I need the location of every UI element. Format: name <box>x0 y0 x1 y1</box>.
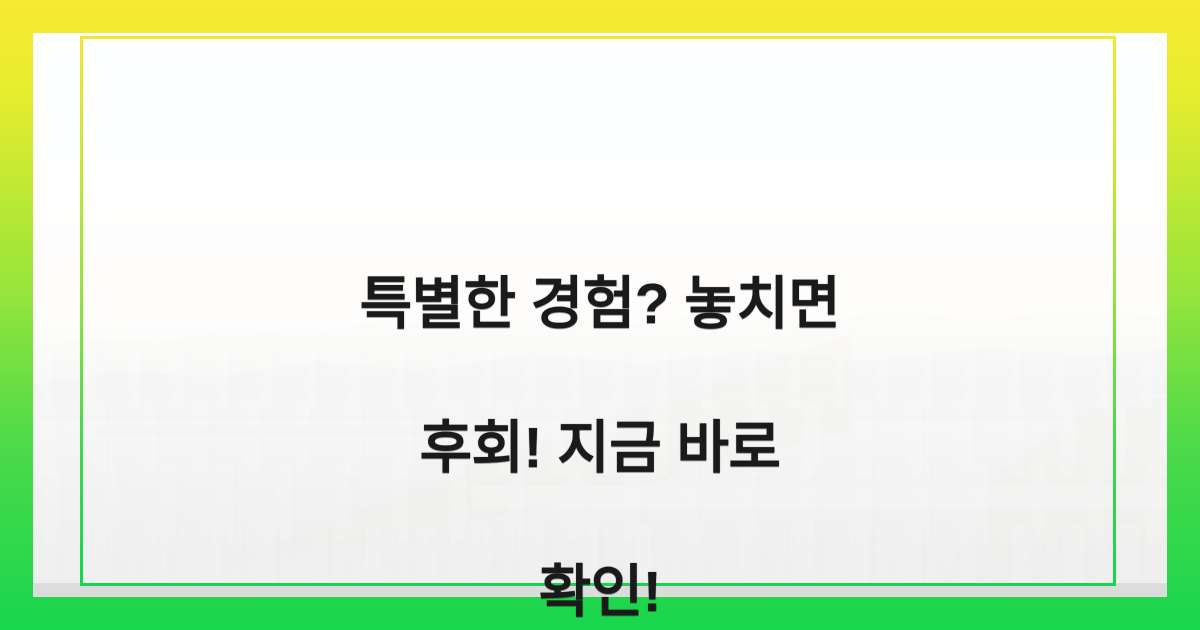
headline-line-2: 후회! 지금 바로 <box>130 412 1070 484</box>
headline: 특별한 경험? 놓치면 후회! 지금 바로 확인! <box>0 196 1200 630</box>
headline-line-3: 확인! <box>130 556 1070 628</box>
headline-line-1: 특별한 경험? 놓치면 <box>130 268 1070 340</box>
promo-card: 특별한 경험? 놓치면 후회! 지금 바로 확인! <box>0 0 1200 630</box>
